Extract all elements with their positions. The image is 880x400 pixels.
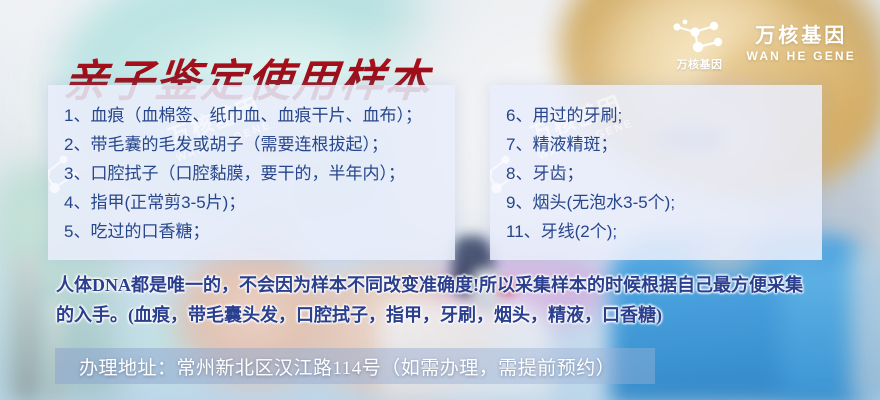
- description-paragraph: 人体DNA都是唯一的，不会因为样本不同改变准确度!所以采集样本的时候根据自己最方…: [56, 270, 856, 330]
- list-item: 4、指甲(正常剪3-5片)；: [64, 188, 455, 217]
- logo-mark-label: 万核基因: [668, 56, 730, 72]
- poster-canvas: 亲子鉴定使用样本 万核基因: [0, 0, 880, 400]
- list-item: 7、精液精斑；: [506, 130, 822, 159]
- sample-list-left: 1、血痕（血棉签、纸巾血、血痕干片、血布）； 2、带毛囊的毛发或胡子（需要连根拔…: [48, 85, 455, 246]
- list-item: 11、牙线(2个);: [506, 217, 822, 246]
- list-item: 1、血痕（血棉签、纸巾血、血痕干片、血布）；: [64, 101, 455, 130]
- bg-left-pole: [14, 250, 40, 400]
- brand-wordmark: 万核基因 WAN HE GENE: [746, 25, 856, 64]
- list-item: 9、烟头(无泡水3-5个);: [506, 188, 822, 217]
- sample-list-right: 6、用过的牙刷; 7、精液精斑； 8、牙齿； 9、烟头(无泡水3-5个); 11…: [490, 85, 822, 246]
- address-text: 办理地址：常州新北区汉江路114号（如需办理，需提前预约）: [79, 353, 615, 380]
- list-item: 5、吃过的口香糖；: [64, 217, 455, 246]
- list-item: 6、用过的牙刷;: [506, 101, 822, 130]
- address-bar: 办理地址：常州新北区汉江路114号（如需办理，需提前预约）: [55, 348, 655, 384]
- brand-logo: 万核基因 万核基因 WAN HE GENE: [668, 18, 856, 70]
- sample-list-card-left: 万核基因 WAN HE GENE 1、血痕（血棉签、纸巾血、血痕干片、血布）； …: [48, 85, 455, 260]
- description-line-2: 的入手。(血痕，带毛囊头发，口腔拭子，指甲，牙刷，烟头，精液，口香糖): [56, 300, 856, 330]
- description-line-1: 人体DNA都是唯一的，不会因为样本不同改变准确度!所以采集样本的时候根据自己最方…: [56, 270, 856, 300]
- sample-list-card-right: 万核基因 WAN HE GENE 6、用过的牙刷; 7、精液精斑； 8、牙齿； …: [490, 85, 822, 260]
- brand-name-en: WAN HE GENE: [746, 50, 856, 64]
- list-item: 2、带毛囊的毛发或胡子（需要连根拔起）；: [64, 130, 455, 159]
- list-item: 8、牙齿；: [506, 159, 822, 188]
- brand-name-cn: 万核基因: [755, 25, 847, 48]
- list-item: 3、口腔拭子（口腔黏膜，要干的，半年内）；: [64, 159, 455, 188]
- molecule-icon: 万核基因: [668, 18, 730, 70]
